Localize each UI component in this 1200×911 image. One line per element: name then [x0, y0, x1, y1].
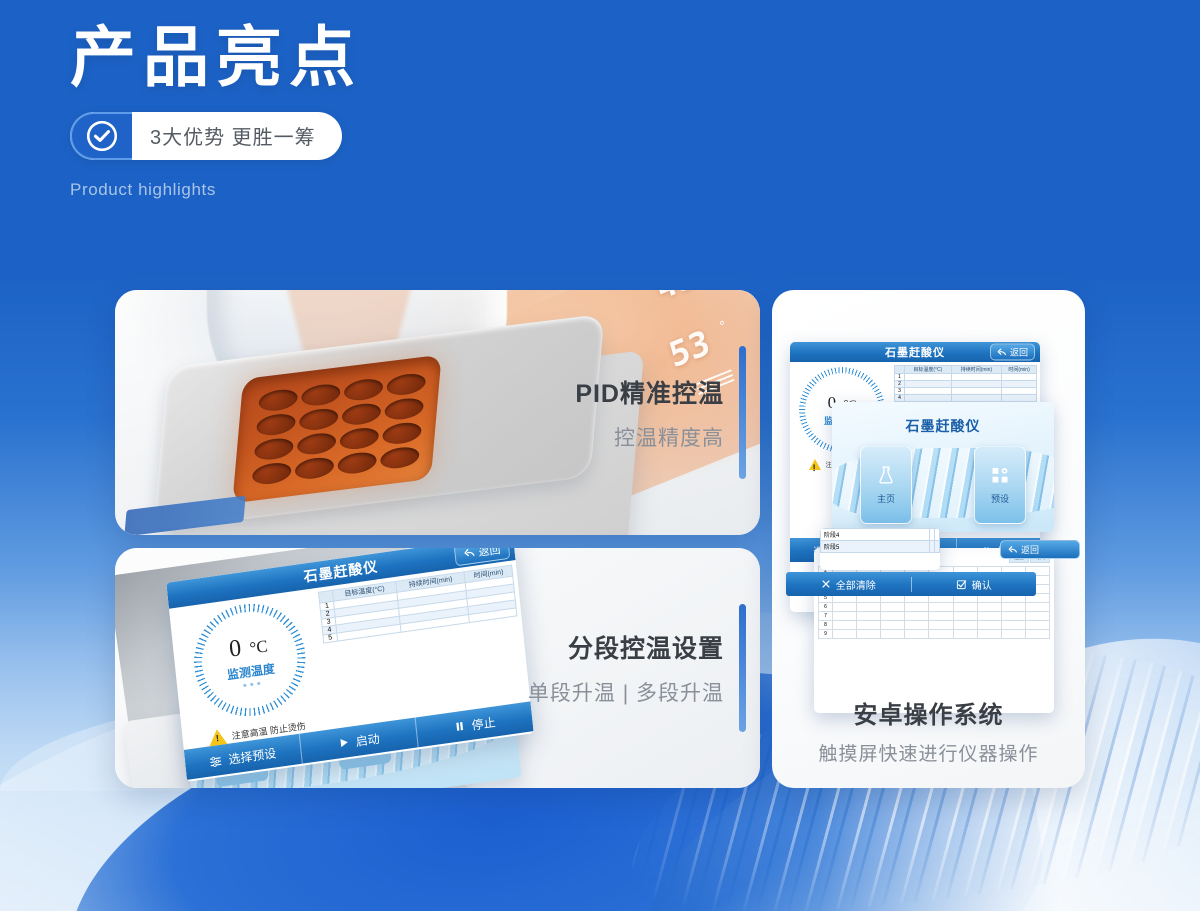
- display-unit-2: °: [717, 318, 728, 335]
- product-highlights-page: 产品亮点 3大优势 更胜一筹 Product highlights 45: [0, 0, 1200, 911]
- home-tile-preset-label: 预设: [991, 492, 1009, 505]
- sliders-icon: [209, 753, 223, 768]
- table-row[interactable]: 8: [819, 621, 1050, 630]
- page-title: 产品亮点: [70, 22, 362, 96]
- card-pid-temperature-control[interactable]: 45 ° 53 ° PID精准控温 控温精度高: [115, 290, 760, 535]
- table-row[interactable]: 阶段4: [821, 529, 940, 541]
- back-arrow-icon: [1008, 545, 1018, 555]
- android-col-hold-time: 持续时间(min): [951, 366, 1001, 374]
- highlight-badge: 3大优势 更胜一筹: [70, 112, 342, 160]
- clear-all-label: 全部清除: [836, 577, 876, 592]
- android-col-time: 时间(min): [1002, 366, 1037, 374]
- gauge-readout: 0 °C 监测温度: [223, 631, 276, 689]
- table-row[interactable]: 9: [819, 630, 1050, 639]
- confirm-label: 确认: [972, 577, 992, 592]
- gauge-value: 0: [228, 635, 243, 663]
- table-row[interactable]: 7: [819, 612, 1050, 621]
- grid-gear-icon: [990, 465, 1010, 485]
- close-x-icon: [821, 579, 831, 589]
- table-row[interactable]: 3: [895, 388, 1037, 395]
- badge-icon-wrap: [70, 112, 132, 160]
- flask-icon: [876, 465, 896, 485]
- stage-row-4: 阶段4: [821, 529, 930, 541]
- back-arrow-icon: [463, 548, 476, 560]
- confirm-button[interactable]: 确认: [912, 577, 1037, 592]
- table-row[interactable]: 4: [895, 395, 1037, 402]
- start-label: 启动: [355, 729, 381, 749]
- table-row[interactable]: 1: [895, 374, 1037, 381]
- row-index: 5: [323, 633, 338, 643]
- gauge-unit: °C: [249, 636, 269, 657]
- card-pid-subtitle: 控温精度高: [575, 422, 724, 452]
- android-preset-back-button[interactable]: 返回: [1000, 540, 1080, 559]
- row-index: 3: [895, 388, 905, 395]
- stop-label: 停止: [471, 713, 497, 733]
- android-col-target-temp: 目标温度(°C): [905, 366, 952, 374]
- back-arrow-icon: [997, 347, 1007, 357]
- card-pid-copy: PID精准控温 控温精度高: [575, 374, 724, 452]
- row-index: 1: [895, 374, 905, 381]
- card-android-title: 安卓操作系统: [772, 695, 1085, 730]
- badge-label: 3大优势 更胜一筹: [132, 112, 342, 160]
- check-box-icon: [956, 579, 967, 590]
- card-segment-copy: 分段控温设置 单段升温 | 多段升温: [528, 629, 724, 707]
- pause-icon: [453, 720, 466, 734]
- android-home-menu-screen[interactable]: 石墨赶酸仪 主页: [832, 402, 1054, 532]
- android-stage-list[interactable]: 阶段4 阶段5: [820, 528, 940, 570]
- warning-triangle-icon: [809, 459, 821, 470]
- play-icon: [337, 736, 350, 750]
- android-back-label: 返回: [1010, 346, 1028, 359]
- home-tile-main[interactable]: 主页: [860, 446, 912, 524]
- table-row[interactable]: 2: [895, 381, 1037, 388]
- android-back-button[interactable]: 返回: [990, 344, 1035, 361]
- home-menu-title: 石墨赶酸仪: [832, 402, 1054, 436]
- select-preset-label: 选择预设: [228, 744, 277, 768]
- home-tile-main-label: 主页: [877, 492, 895, 505]
- table-row[interactable]: 阶段5: [821, 541, 940, 553]
- page-subtitle: Product highlights: [70, 180, 362, 200]
- stage-table[interactable]: 阶段4 阶段5: [820, 528, 940, 553]
- check-circle-icon: [87, 121, 117, 151]
- card-pid-title: PID精准控温: [575, 374, 724, 410]
- card-segment-title: 分段控温设置: [528, 629, 724, 665]
- card-segmented-temperature[interactable]: 主页 预设 石墨赶酸仪: [115, 548, 760, 788]
- card-android-os[interactable]: 石墨赶酸仪 返回 0 °C: [772, 290, 1085, 788]
- android-table-header-row: 目标温度(°C) 持续时间(min) 时间(min): [895, 366, 1037, 374]
- android-app-title: 石墨赶酸仪: [885, 344, 945, 360]
- card-segment-accent-bar: [739, 604, 746, 732]
- row-index: 2: [895, 381, 905, 388]
- card-android-subtitle: 触摸屏快速进行仪器操作: [772, 739, 1085, 766]
- card-pid-accent-bar: [739, 346, 746, 479]
- table-row[interactable]: 6: [819, 603, 1050, 612]
- temperature-gauge: 0 °C 监测温度: [188, 596, 311, 723]
- android-title-bar: 石墨赶酸仪 返回: [790, 342, 1040, 362]
- warning-triangle-icon: [208, 728, 227, 746]
- card-segment-subtitle: 单段升温 | 多段升温: [528, 677, 724, 707]
- android-preset-back-label: 返回: [1021, 543, 1039, 556]
- page-header: 产品亮点 3大优势 更胜一筹 Product highlights: [70, 22, 362, 200]
- display-digit-2: 53: [665, 323, 714, 377]
- back-button-label: 返回: [478, 548, 501, 560]
- display-digit-1: 45: [652, 290, 701, 309]
- card-android-copy: 安卓操作系统 触摸屏快速进行仪器操作: [772, 695, 1085, 766]
- stage-row-5: 阶段5: [821, 541, 930, 553]
- row-index: 4: [895, 395, 905, 402]
- clear-all-button[interactable]: 全部清除: [786, 577, 912, 592]
- home-tile-preset[interactable]: 预设: [974, 446, 1026, 524]
- android-footer-actions: 全部清除 确认: [786, 572, 1036, 596]
